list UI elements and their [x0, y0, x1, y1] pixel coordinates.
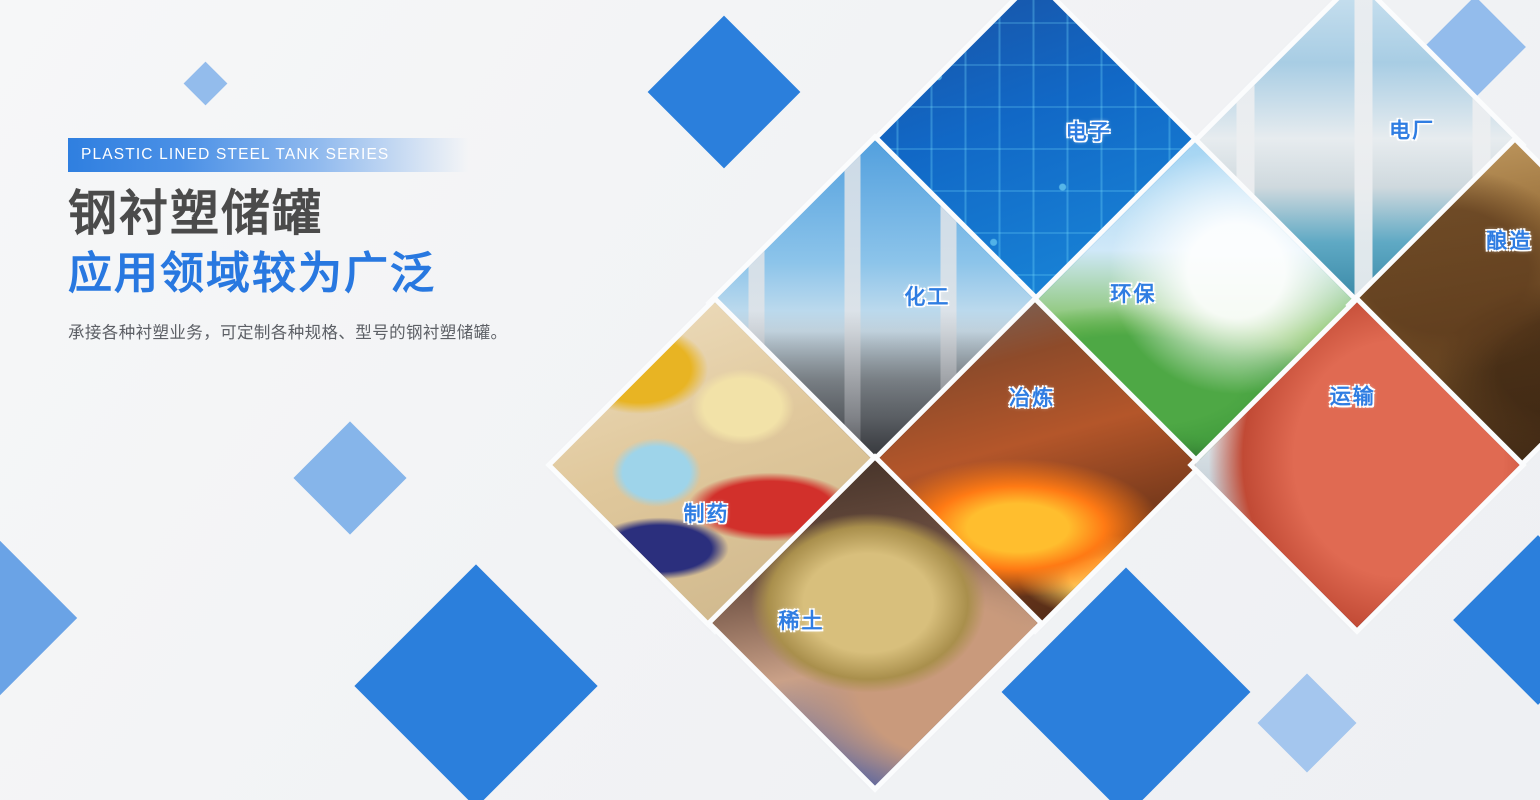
eyebrow-tag: PLASTIC LINED STEEL TANK SERIES: [68, 138, 468, 172]
banner-copy: PLASTIC LINED STEEL TANK SERIES 钢衬塑储罐 应用…: [68, 138, 628, 343]
eyebrow-text: PLASTIC LINED STEEL TANK SERIES: [68, 146, 389, 164]
page-description: 承接各种衬塑业务，可定制各种规格、型号的钢衬塑储罐。: [68, 319, 628, 343]
page-subtitle: 应用领域较为广泛: [68, 250, 628, 298]
page-title: 钢衬塑储罐: [68, 188, 628, 241]
industry-diamond-mosaic: 电子化工电厂环保酿造制药冶炼运输稀土: [0, 0, 1540, 800]
promo-banner: 电子化工电厂环保酿造制药冶炼运输稀土 PLASTIC LINED STEEL T…: [0, 0, 1540, 800]
